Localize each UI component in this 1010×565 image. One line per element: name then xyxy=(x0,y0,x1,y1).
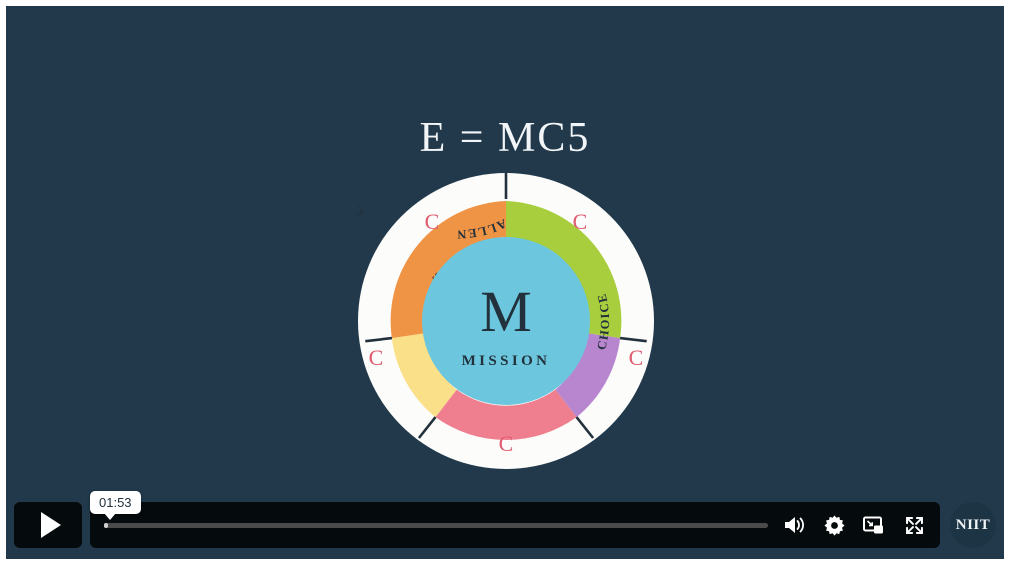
video-player: E = MC5 xyxy=(0,0,1010,565)
c-marker-challenge: C xyxy=(573,209,588,234)
timeline-panel xyxy=(90,502,940,548)
page-title: E = MC5 xyxy=(6,114,1004,162)
video-stage[interactable]: E = MC5 xyxy=(6,6,1004,559)
c-marker-competition: C xyxy=(369,345,384,370)
center-initial: M xyxy=(480,279,532,344)
mc5-wheel-diagram: C C C C C CHALLENGE CHOICE xyxy=(356,171,656,471)
slide-content: E = MC5 xyxy=(6,6,1004,559)
picture-in-picture-icon[interactable] xyxy=(862,513,886,537)
progress-fill xyxy=(104,523,108,528)
brand-label: NIIT xyxy=(956,517,991,534)
center-label: MISSION xyxy=(462,353,551,369)
progress-bar[interactable] xyxy=(104,523,768,528)
time-tooltip-label: 01:53 xyxy=(99,495,132,510)
control-icon-group xyxy=(768,513,926,537)
gear-icon[interactable] xyxy=(822,513,846,537)
fullscreen-icon[interactable] xyxy=(902,513,926,537)
niit-logo-badge[interactable]: NIIT xyxy=(950,502,996,548)
c-marker-consequences: C xyxy=(499,431,514,456)
volume-icon[interactable] xyxy=(782,513,806,537)
play-button[interactable] xyxy=(14,502,82,548)
video-controls: NIIT 01:53 xyxy=(6,499,1004,559)
segment-label-context: CONTEXT xyxy=(356,171,367,219)
play-triangle-icon xyxy=(41,512,61,538)
c-marker-context: C xyxy=(425,209,440,234)
time-tooltip: 01:53 xyxy=(90,491,141,514)
c-marker-choice: C xyxy=(629,345,644,370)
